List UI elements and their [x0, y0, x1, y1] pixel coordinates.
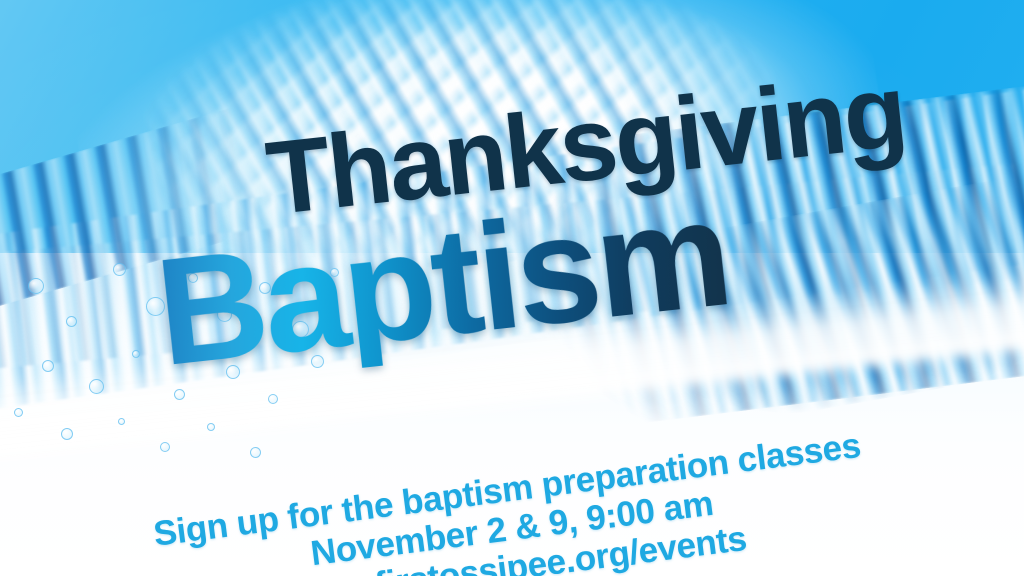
event-slide: Thanksgiving Baptism Sign up for the bap… [0, 0, 1024, 576]
bubble [217, 307, 232, 322]
bubble [28, 278, 44, 294]
bubble-cluster [0, 253, 471, 495]
bubble [14, 408, 23, 417]
bubble [207, 423, 215, 431]
bubble [268, 394, 278, 404]
bubble [146, 297, 165, 316]
bubble [160, 442, 170, 452]
bubble [226, 365, 240, 379]
bubble [188, 273, 198, 283]
bubble [61, 428, 73, 440]
bubble [174, 389, 185, 400]
bubble [42, 360, 54, 372]
bubble [132, 350, 140, 358]
bubble [113, 263, 126, 276]
bubble [89, 379, 104, 394]
bubble [259, 282, 271, 294]
bubble [118, 418, 125, 425]
bubble [250, 447, 261, 458]
bubble [292, 321, 309, 338]
bubble [311, 355, 324, 368]
bubble [66, 316, 77, 327]
bubble [330, 268, 339, 277]
